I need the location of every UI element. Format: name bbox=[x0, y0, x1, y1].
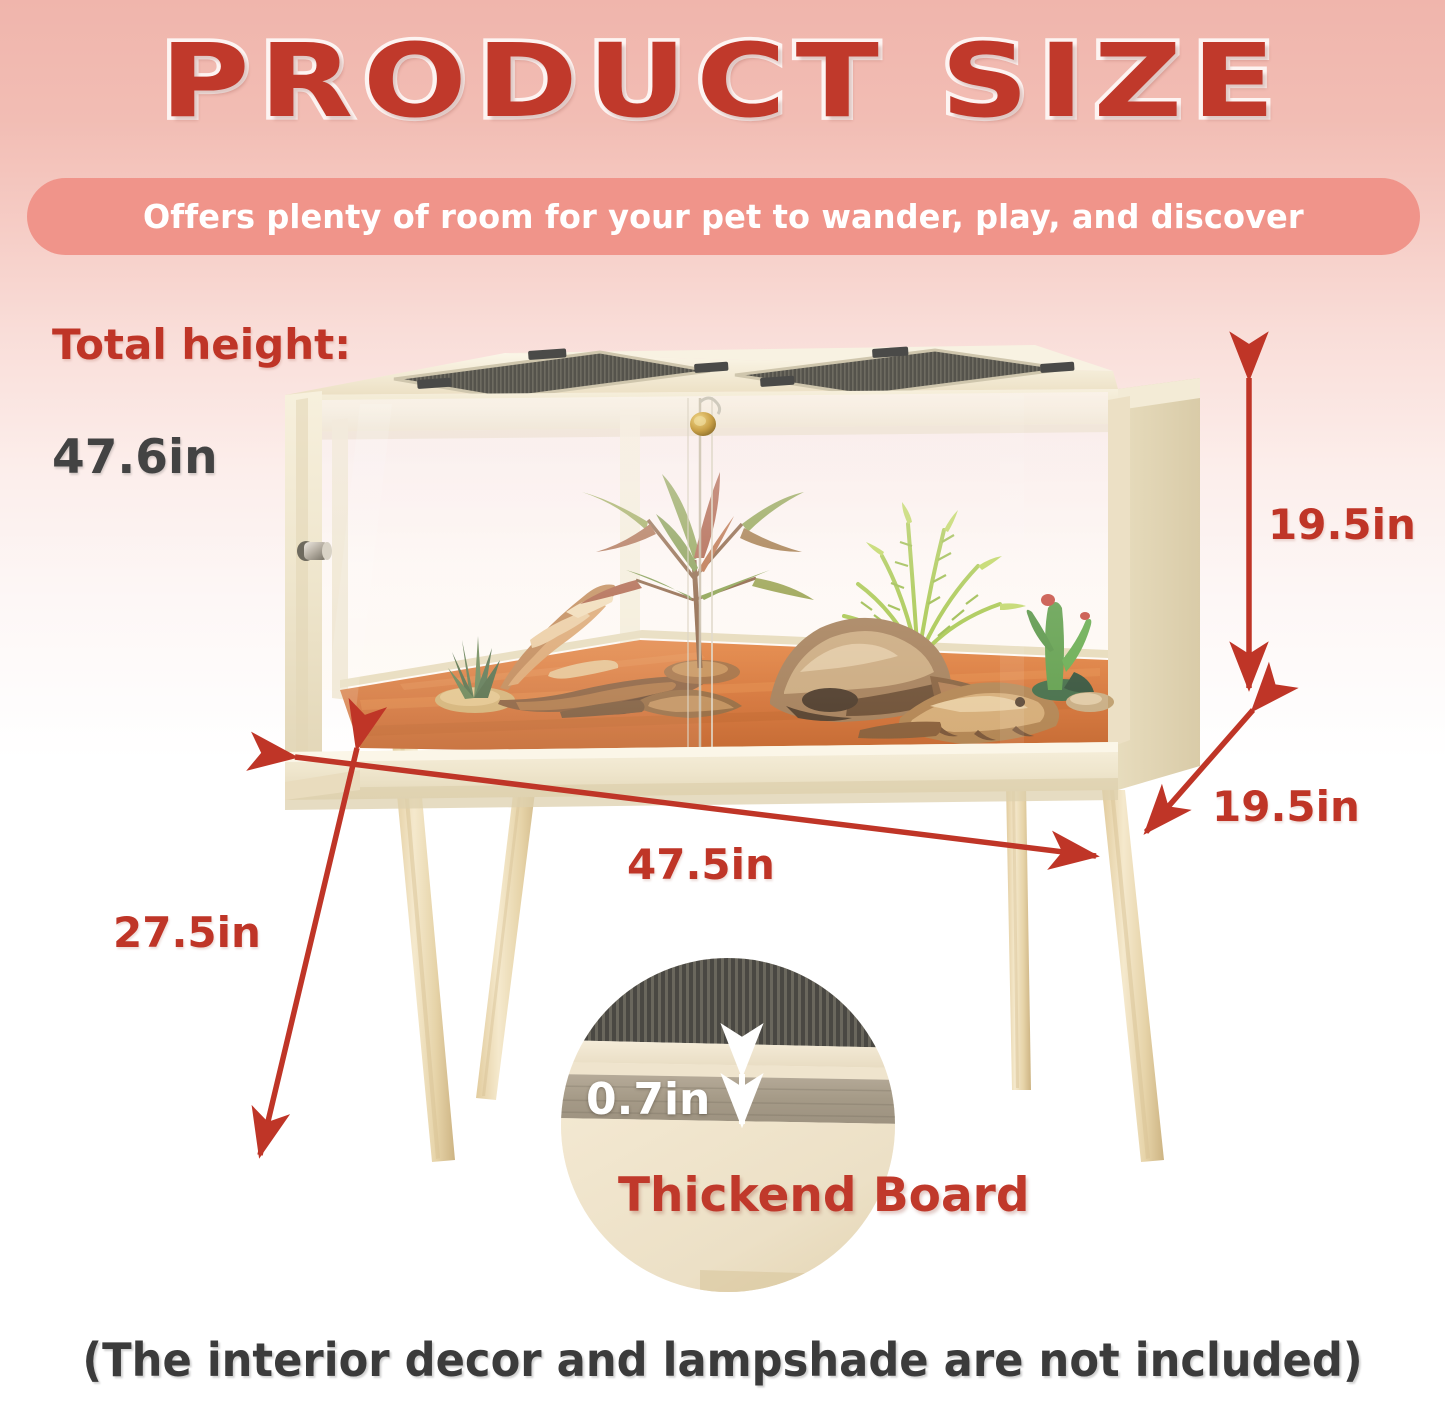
enclosure-height-label: 19.5in bbox=[1268, 500, 1416, 549]
total-height-label: Total height: bbox=[52, 318, 351, 372]
enclosure-depth-label: 19.5in bbox=[1212, 782, 1360, 831]
total-height-value: 47.6in bbox=[52, 430, 218, 486]
thickend-board-caption: Thickend Board bbox=[618, 1168, 1029, 1223]
enclosure-width-label: 47.5in bbox=[627, 840, 775, 889]
disclaimer-text: (The interior decor and lampshade are no… bbox=[43, 1333, 1401, 1387]
board-thickness-label: 0.7in bbox=[586, 1074, 710, 1125]
door-knob bbox=[297, 541, 332, 561]
glass-front-doors bbox=[322, 392, 1108, 755]
leg-height-label: 27.5in bbox=[113, 908, 261, 957]
thickness-detail-circle bbox=[555, 950, 905, 1310]
terrarium-cabinet bbox=[285, 378, 1200, 810]
